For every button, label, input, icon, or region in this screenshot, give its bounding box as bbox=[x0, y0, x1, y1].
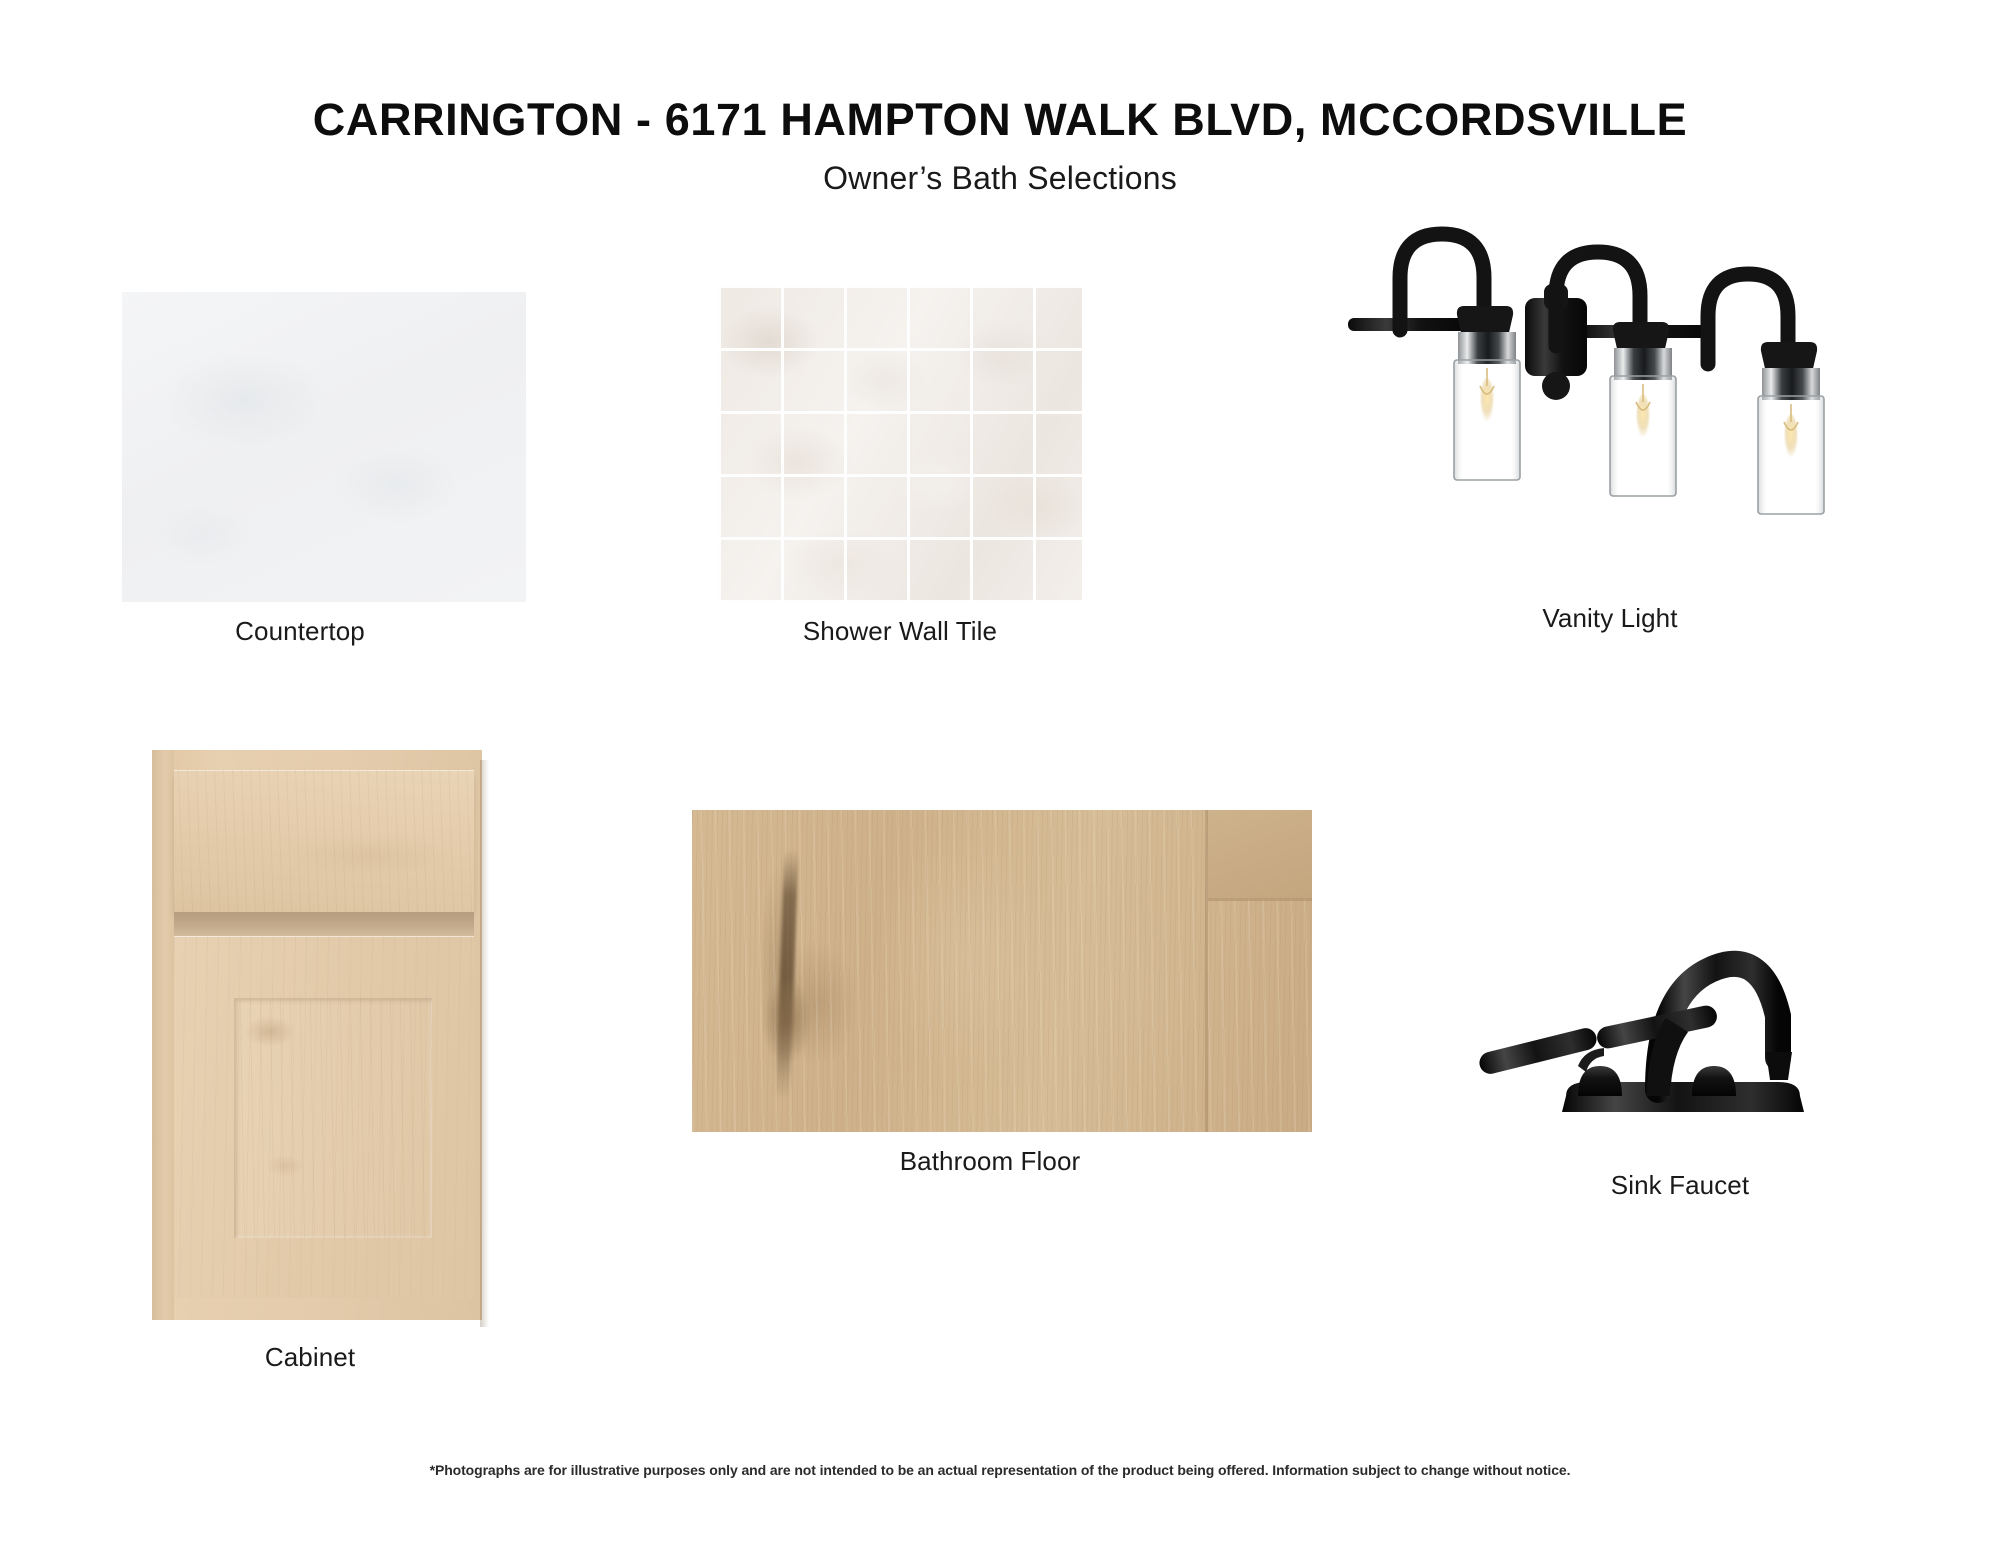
shower-tile-swatch-image bbox=[718, 285, 1082, 602]
selection-sheet: CARRINGTON - 6171 HAMPTON WALK BLVD, MCC… bbox=[0, 0, 2000, 1545]
sink-faucet-product-image bbox=[1470, 900, 1890, 1130]
vanity-light-product-image bbox=[1330, 200, 1890, 530]
page-title: CARRINGTON - 6171 HAMPTON WALK BLVD, MCC… bbox=[0, 96, 2000, 143]
footer-disclaimer: *Photographs are for illustrative purpos… bbox=[0, 1462, 2000, 1478]
cabinet-center-panel bbox=[234, 998, 432, 1238]
vanity-lamp-left bbox=[1400, 234, 1520, 480]
vanity-arm-bar-left bbox=[1348, 318, 1468, 331]
bathroom-floor-label: Bathroom Floor bbox=[640, 1146, 1340, 1177]
sink-faucet-label: Sink Faucet bbox=[1470, 1170, 1890, 1201]
floor-plank-seam-vertical bbox=[1205, 810, 1208, 1132]
floor-knot bbox=[756, 960, 818, 1080]
tile-grout-grid bbox=[718, 285, 1082, 602]
cabinet-left-stile bbox=[152, 750, 174, 1320]
cabinet-door-image bbox=[152, 750, 482, 1320]
sheet-header: CARRINGTON - 6171 HAMPTON WALK BLVD, MCC… bbox=[0, 96, 2000, 197]
cabinet-door-front bbox=[174, 936, 474, 1298]
cabinet-drop-shadow bbox=[480, 760, 489, 1327]
page-subtitle: Owner’s Bath Selections bbox=[0, 160, 2000, 197]
selection-countertop: Countertop bbox=[80, 292, 520, 602]
selection-vanity-light: Vanity Light bbox=[1330, 200, 1890, 535]
countertop-swatch-image bbox=[122, 292, 526, 602]
shower-tile-label: Shower Wall Tile bbox=[700, 616, 1100, 647]
vanity-lamp-right bbox=[1708, 274, 1824, 514]
selection-cabinet: Cabinet bbox=[110, 750, 510, 1320]
selection-shower-wall-tile: Shower Wall Tile bbox=[700, 285, 1100, 602]
bathroom-floor-image bbox=[692, 810, 1312, 1132]
floor-plank-seam-horizontal bbox=[1208, 898, 1312, 901]
cabinet-reveal-gap bbox=[174, 912, 474, 936]
cabinet-drawer-front bbox=[174, 770, 474, 912]
countertop-label: Countertop bbox=[80, 616, 520, 647]
floor-plank-corner bbox=[1208, 810, 1312, 898]
selection-bathroom-floor: Bathroom Floor bbox=[640, 810, 1340, 1132]
faucet-spout-tip bbox=[1766, 1052, 1792, 1080]
cabinet-label: Cabinet bbox=[110, 1342, 510, 1373]
selection-sink-faucet: Sink Faucet bbox=[1470, 900, 1890, 1135]
vanity-light-label: Vanity Light bbox=[1330, 603, 1890, 634]
